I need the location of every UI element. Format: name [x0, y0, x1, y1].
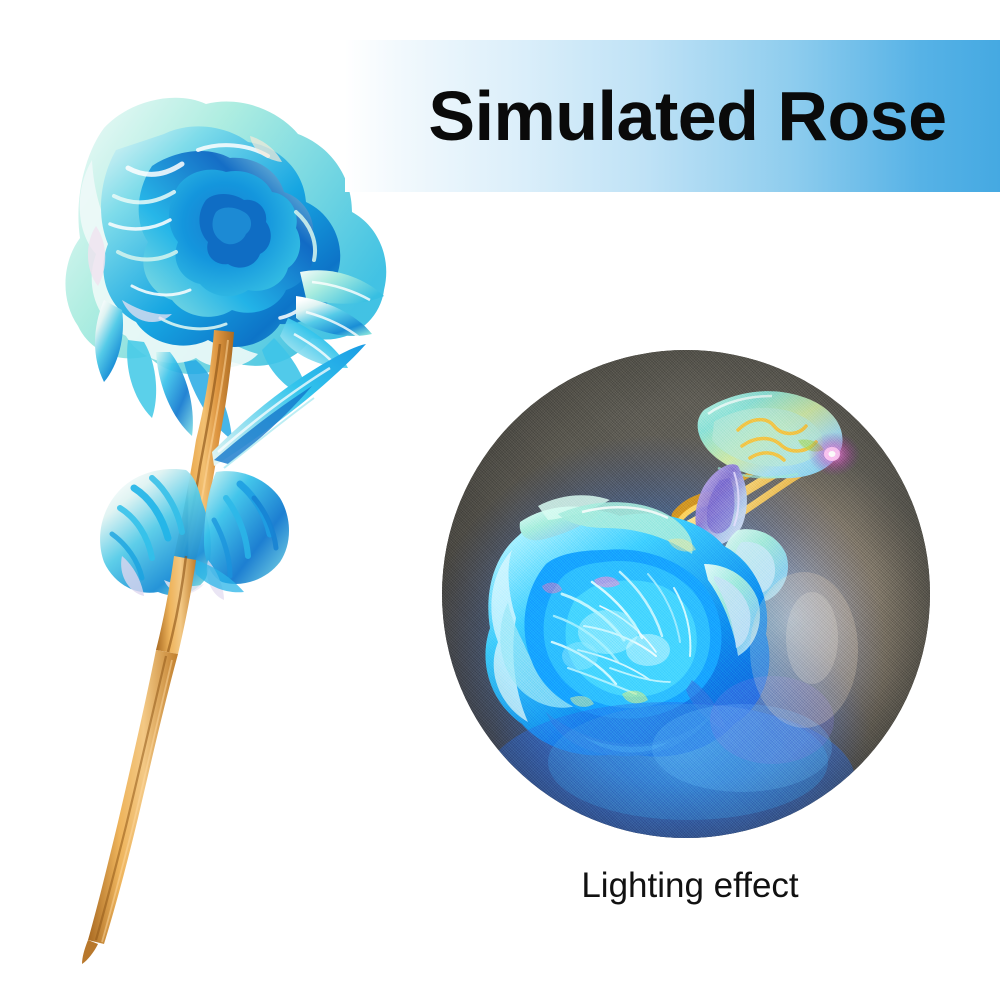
lighting-effect-caption: Lighting effect [440, 866, 940, 906]
rose-stem-lower [82, 650, 178, 964]
rose-leaf-cluster [100, 469, 289, 600]
title-banner: Simulated Rose [345, 40, 1000, 192]
inset-specular-highlight [750, 572, 858, 728]
page-title: Simulated Rose [345, 40, 1000, 192]
lighting-effect-inset-photo [442, 350, 930, 838]
product-image-page: Simulated Rose [0, 0, 1000, 1000]
inset-led-light [808, 432, 860, 476]
